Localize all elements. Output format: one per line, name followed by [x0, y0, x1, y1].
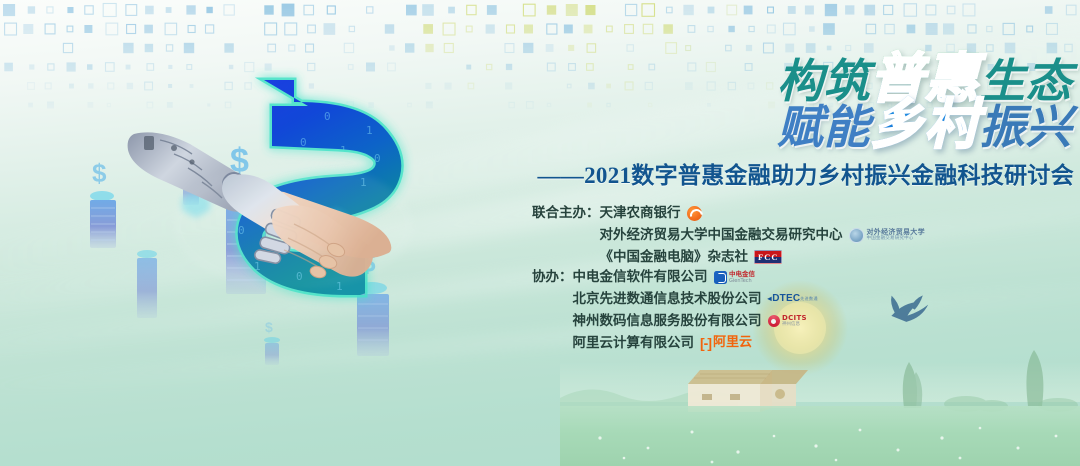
- dtec-logo-text: DTEC: [768, 294, 801, 304]
- mosaic-cell: [224, 43, 233, 52]
- mosaic-cell: [768, 7, 774, 13]
- mosaic-cell: [405, 43, 414, 52]
- mosaic-cell: [107, 103, 110, 106]
- svg-text:1: 1: [330, 208, 337, 221]
- robot-arm: [128, 132, 256, 211]
- credit-row: 联合主办： 《中国金融电脑》杂志社 FCC: [532, 246, 925, 268]
- mosaic-cell: [87, 64, 93, 70]
- svg-text:1: 1: [366, 124, 373, 137]
- mosaic-cell: [426, 102, 433, 109]
- mosaic-cell: [943, 23, 954, 34]
- mosaic-cell: [188, 26, 195, 33]
- mosaic-cell: [708, 7, 715, 14]
- mosaic-cell: [103, 4, 116, 17]
- credit-row: 联合主办： 天津农商银行: [532, 202, 925, 224]
- mosaic-cell: [564, 25, 573, 34]
- mosaic-cell: [926, 5, 936, 15]
- mosaic-cell: [349, 26, 354, 31]
- mosaic-cell: [1027, 26, 1033, 32]
- banner-title-line-2: 赋能乡村振兴: [777, 98, 1072, 152]
- svg-text:0: 0: [322, 244, 329, 257]
- mosaic-cell: [1047, 24, 1058, 35]
- mosaic-cell: [926, 23, 938, 35]
- mosaic-cell: [88, 83, 93, 88]
- mosaic-cell: [468, 83, 474, 89]
- mosaic-cell: [289, 45, 295, 51]
- mosaic-cell: [466, 65, 471, 70]
- mosaic-cell: [225, 102, 231, 108]
- mosaic-cell: [224, 5, 234, 15]
- distant-hill: [560, 389, 738, 406]
- mosaic-cell: [506, 64, 512, 70]
- mosaic-cell: [805, 6, 814, 15]
- mosaic-cell: [347, 102, 353, 108]
- mosaic-cell: [327, 6, 335, 14]
- dcits-logo-text: DCITS: [782, 315, 807, 323]
- mosaic-cell: [85, 6, 93, 14]
- mosaic-cell: [688, 26, 695, 33]
- svg-text:$: $: [265, 319, 273, 335]
- mosaic-cell: [63, 43, 72, 52]
- shrub: [944, 396, 1078, 412]
- svg-text:1: 1: [284, 326, 291, 339]
- uibe-logo-sub: 中国金融交易研究中心: [867, 236, 925, 242]
- mosaic-cell: [28, 103, 33, 108]
- mosaic-cell: [425, 44, 433, 52]
- dollar-sign-glow: [238, 80, 402, 295]
- mosaic-cell: [309, 83, 314, 88]
- svg-text:$: $: [182, 155, 190, 171]
- svg-text:0: 0: [374, 152, 381, 165]
- mosaic-cell: [288, 102, 294, 108]
- mosaic-cell: [84, 25, 92, 33]
- mosaic-cell: [4, 63, 13, 72]
- mosaic-cell: [167, 102, 173, 108]
- dcits-swirl-icon: [768, 315, 780, 327]
- svg-text:$: $: [230, 142, 249, 180]
- mosaic-cell: [968, 25, 976, 33]
- host-organizers-block: 联合主办： 天津农商银行 联合主办： 对外经济贸易大学中国金融交易研究中心 对外…: [532, 202, 925, 268]
- mosaic-cell: [145, 6, 154, 15]
- mosaic-cell: [47, 7, 53, 13]
- mosaic-cell: [67, 7, 73, 13]
- mosaic-cell: [166, 7, 172, 13]
- robot-hand: [222, 174, 315, 264]
- mosaic-cell: [683, 5, 693, 15]
- mosaic-cell: [306, 102, 313, 109]
- mosaic-cell: [963, 4, 975, 16]
- mosaic-cell: [744, 6, 753, 15]
- svg-text:0: 0: [326, 334, 333, 347]
- mosaic-cell: [67, 62, 76, 71]
- mosaic-cell: [207, 103, 210, 106]
- mosaic-cell: [206, 25, 214, 33]
- mosaic-cell: [344, 43, 353, 52]
- svg-text:1: 1: [310, 304, 317, 317]
- coorg-entry-name: 北京先进数通信息技术股份公司: [573, 288, 762, 310]
- mosaic-cell: [607, 26, 613, 32]
- binary-texture: 010 110 100 101 101 010 110 101 010: [234, 96, 381, 347]
- mosaic-cell: [388, 63, 396, 71]
- mosaic-cell: [45, 83, 51, 89]
- mosaic-cell: [423, 24, 433, 34]
- mosaic-cell: [727, 5, 737, 15]
- mosaic-cell: [845, 5, 854, 14]
- mosaic-cell: [28, 83, 35, 90]
- mosaic-cell: [145, 44, 153, 52]
- mosaic-cell: [448, 7, 455, 14]
- co-organizers-block: 协办： 中电金信软件有限公司 中电金信 GienTech 协办： 北京先进数通信…: [532, 266, 818, 354]
- coin-stack: [137, 250, 157, 318]
- dcits-logo-sub: 神州信息: [782, 322, 807, 328]
- mosaic-cell: [947, 6, 955, 14]
- svg-text:0: 0: [296, 270, 303, 283]
- dcits-logo: DCITS 神州信息: [768, 315, 807, 328]
- mosaic-cell: [168, 84, 172, 88]
- svg-text:1: 1: [248, 188, 255, 201]
- mosaic-cell: [127, 83, 133, 89]
- svg-text:1: 1: [360, 176, 367, 189]
- coin-stack: $: [264, 319, 280, 365]
- coorg-entry-name: 神州数码信息服务股份有限公司: [573, 310, 762, 332]
- coin-stack: $: [226, 142, 266, 294]
- mosaic-cell: [385, 24, 394, 33]
- mosaic-cell: [1003, 23, 1014, 34]
- mosaic-cell: [505, 44, 514, 53]
- human-arm: [259, 191, 391, 258]
- mosaic-cell: [728, 26, 734, 32]
- promotional-banner: $ $ $: [0, 0, 1080, 466]
- mosaic-cell: [406, 5, 417, 16]
- mosaic-cell: [408, 103, 412, 107]
- svg-text:$: $: [360, 247, 376, 278]
- coin-stack: $: [90, 158, 116, 248]
- mosaic-cell: [69, 84, 74, 89]
- mosaic-cell: [144, 25, 153, 34]
- mosaic-cell: [486, 24, 495, 33]
- host-entry-name: 天津农商银行: [600, 202, 681, 224]
- banner-text-block: 构筑普惠生态 赋能乡村振兴 ——2021数字普惠金融助力乡村振兴金融科技研讨会 …: [520, 44, 1080, 364]
- mosaic-cell: [466, 26, 472, 32]
- credit-row: 协办： 北京先进数通信息技术股份公司 DTEC 先进数通: [532, 288, 818, 310]
- svg-text:1: 1: [280, 234, 287, 247]
- mosaic-cell: [147, 64, 154, 71]
- banner-subtitle: ——2021数字普惠金融助力乡村振兴金融科技研讨会: [538, 156, 1075, 190]
- svg-text:1: 1: [284, 96, 291, 109]
- mosaic-cell: [505, 82, 512, 89]
- fcc-logo-text: FCC: [754, 250, 782, 264]
- mosaic-cell: [987, 26, 992, 31]
- mosaic-cell: [904, 4, 916, 16]
- mosaic-cell: [165, 23, 177, 35]
- mosaic-cell: [168, 65, 172, 69]
- mosaic-cell: [625, 25, 634, 34]
- mosaic-cell: [825, 4, 837, 16]
- mosaic-cell: [106, 63, 115, 72]
- mosaic-cell: [268, 44, 276, 52]
- svg-text:1: 1: [256, 128, 263, 141]
- mosaic-cell: [1066, 5, 1076, 15]
- coorg-label: 协办：: [532, 266, 573, 288]
- mosaic-cell: [229, 65, 233, 69]
- mosaic-cell: [206, 7, 212, 13]
- mosaic-cell: [29, 64, 34, 69]
- uibe-logo: 对外经济贸易大学 中国金融交易研究中心: [849, 228, 925, 243]
- mosaic-cell: [308, 25, 316, 33]
- mosaic-cell: [389, 45, 394, 50]
- mosaic-cell: [885, 24, 894, 33]
- mosaic-cell: [304, 5, 314, 15]
- mosaic-cell: [225, 82, 232, 89]
- mosaic-cell: [306, 44, 314, 52]
- tianjin-rural-commercial-bank-logo: [687, 206, 702, 221]
- mosaic-cell: [1045, 6, 1053, 14]
- coorg-entry-name: 中电金信软件有限公司: [573, 266, 708, 288]
- mosaic-cell: [245, 63, 254, 72]
- mosaic-cell: [285, 23, 297, 35]
- svg-text:1: 1: [364, 252, 371, 265]
- mosaic-cell: [422, 4, 434, 16]
- mosaic-cell: [547, 5, 556, 14]
- mosaic-cell: [425, 83, 431, 89]
- title-segment-5: 乡村: [870, 95, 979, 155]
- mosaic-cell: [264, 5, 273, 14]
- mosaic-cell: [907, 25, 916, 34]
- mosaic-cell: [509, 102, 514, 107]
- mosaic-cell: [67, 26, 73, 32]
- dtec-logo: DTEC 先进数通: [768, 294, 818, 304]
- mosaic-cell: [48, 64, 54, 70]
- mosaic-cell: [864, 5, 875, 16]
- credit-row: 联合主办： 对外经济贸易大学中国金融交易研究中心 对外经济贸易大学 中国金融交易…: [532, 224, 925, 246]
- gientech-logo-cn: 中电金信: [729, 271, 755, 278]
- mosaic-cell: [823, 23, 835, 35]
- svg-text:0: 0: [300, 136, 307, 149]
- host-entry-name: 《中国金融电脑》杂志社: [600, 246, 749, 268]
- mosaic-cell: [584, 25, 593, 34]
- human-hand: [272, 205, 373, 279]
- robot-fingers: [254, 208, 302, 264]
- mosaic-cell: [767, 25, 775, 33]
- gientech-mark-icon: [714, 271, 727, 284]
- mosaic-cell: [106, 23, 118, 35]
- mosaic-cell: [265, 23, 277, 35]
- mosaic-cell: [784, 23, 796, 35]
- mosaic-cell: [45, 24, 55, 34]
- svg-text:0: 0: [324, 110, 331, 123]
- fcc-logo: FCC: [754, 250, 782, 264]
- aliyun-logo: [-] 阿里云: [700, 336, 752, 350]
- svg-text:1: 1: [336, 280, 343, 293]
- mosaic-cell: [566, 4, 578, 16]
- svg-text:0: 0: [234, 152, 241, 165]
- mosaic-cell: [443, 23, 455, 35]
- mosaic-cell: [507, 25, 515, 33]
- mosaic-cell: [3, 4, 15, 16]
- village-house-icon: [688, 370, 808, 412]
- gientech-logo-en: GienTech: [729, 278, 755, 284]
- svg-text:0: 0: [238, 224, 245, 237]
- credit-row: 协办： 阿里云计算有限公司 [-] 阿里云: [532, 332, 818, 354]
- uibe-seal-icon: [849, 228, 864, 243]
- mosaic-cell: [186, 5, 195, 14]
- mosaic-cell: [626, 4, 637, 15]
- mosaic-cell: [324, 23, 336, 35]
- mosaic-cell: [5, 23, 17, 35]
- svg-text:1: 1: [276, 160, 283, 173]
- uibe-logo-name: 对外经济贸易大学: [867, 228, 925, 236]
- svg-text:0: 0: [290, 198, 297, 211]
- mosaic-cell: [487, 5, 497, 15]
- mosaic-cell: [190, 84, 194, 88]
- credit-row: 协办： 中电金信软件有限公司 中电金信 GienTech: [532, 266, 818, 288]
- mosaic-cell: [809, 26, 815, 32]
- mosaic-cell: [643, 24, 652, 33]
- floating-coin-stacks: $ $ $: [90, 142, 389, 365]
- mosaic-cell: [667, 7, 673, 13]
- mosaic-cell: [348, 65, 353, 70]
- aliyun-bracket-icon: [-]: [700, 336, 711, 350]
- cetc-gientech-logo: 中电金信 GienTech: [714, 271, 756, 284]
- mosaic-cell: [749, 26, 754, 31]
- mosaic-cell: [187, 65, 192, 70]
- dtec-logo-sub: 先进数通: [800, 297, 818, 301]
- mosaic-cell: [88, 102, 94, 108]
- mosaic-cell: [524, 25, 533, 34]
- mosaic-cell: [123, 43, 133, 53]
- title-segment-4: 赋能: [777, 102, 870, 153]
- svg-text:1: 1: [254, 260, 261, 273]
- mosaic-cell: [487, 64, 492, 69]
- mosaic-cell: [269, 103, 273, 107]
- hero-artwork-dollar-handshake: $ $ $: [78, 58, 498, 378]
- mosaic-cell: [308, 63, 315, 70]
- mosaic-cell: [444, 44, 453, 53]
- teal-hex-chip: [182, 190, 348, 233]
- mosaic-cell: [367, 7, 373, 13]
- robot-human-handshake: [128, 132, 392, 279]
- mosaic-cell: [282, 4, 295, 17]
- host-label: 联合主办：: [532, 202, 600, 224]
- mosaic-cell: [547, 24, 557, 34]
- mosaic-cell: [127, 25, 136, 34]
- mosaic-cell: [585, 5, 595, 15]
- mosaic-cell: [147, 102, 153, 108]
- mosaic-cell: [126, 65, 131, 70]
- dollar-sign-shape: 010 110 100 101 101 010 110 101 010: [228, 80, 401, 354]
- mosaic-cell: [368, 102, 374, 108]
- city-silhouette: [278, 296, 359, 354]
- cypress-tree: [903, 362, 922, 408]
- svg-text:0: 0: [246, 106, 253, 119]
- mosaic-cell: [28, 6, 35, 13]
- mosaic-cell: [23, 24, 33, 34]
- mosaic-cell: [663, 24, 673, 34]
- mosaic-cell: [108, 83, 114, 89]
- mosaic-cell: [708, 26, 713, 31]
- svg-text:$: $: [92, 158, 107, 188]
- mosaic-cell: [126, 5, 137, 16]
- title-segment-6: 振兴: [979, 102, 1072, 153]
- mosaic-cell: [245, 83, 251, 89]
- mosaic-cell: [884, 5, 893, 14]
- svg-text:0: 0: [268, 294, 275, 307]
- mosaic-cell: [47, 102, 54, 109]
- host-entry-name: 对外经济贸易大学中国金融交易研究中心: [600, 224, 843, 246]
- coorg-entry-name: 阿里云计算有限公司: [573, 332, 695, 354]
- credit-row: 协办： 神州数码信息服务股份有限公司 DCITS 神州信息: [532, 310, 818, 332]
- mosaic-cell: [445, 83, 452, 90]
- mosaic-cell: [467, 5, 476, 14]
- mosaic-cell: [366, 63, 375, 72]
- svg-text:0: 0: [350, 314, 357, 327]
- mosaic-cell: [788, 6, 796, 14]
- svg-text:0: 0: [318, 168, 325, 181]
- mosaic-cell: [642, 4, 655, 16]
- coin-stack: $: [182, 155, 199, 205]
- aliyun-logo-text: 阿里云: [713, 336, 752, 350]
- mosaic-cell: [265, 64, 272, 71]
- mosaic-cell: [523, 4, 535, 16]
- svg-text:1: 1: [340, 144, 347, 157]
- mosaic-cell: [166, 45, 172, 51]
- mosaic-cell: [145, 82, 153, 90]
- mosaic-cell: [184, 43, 194, 53]
- coin-stack: $: [357, 247, 389, 356]
- mosaic-cell: [866, 24, 875, 33]
- field-flowers: [598, 427, 1057, 464]
